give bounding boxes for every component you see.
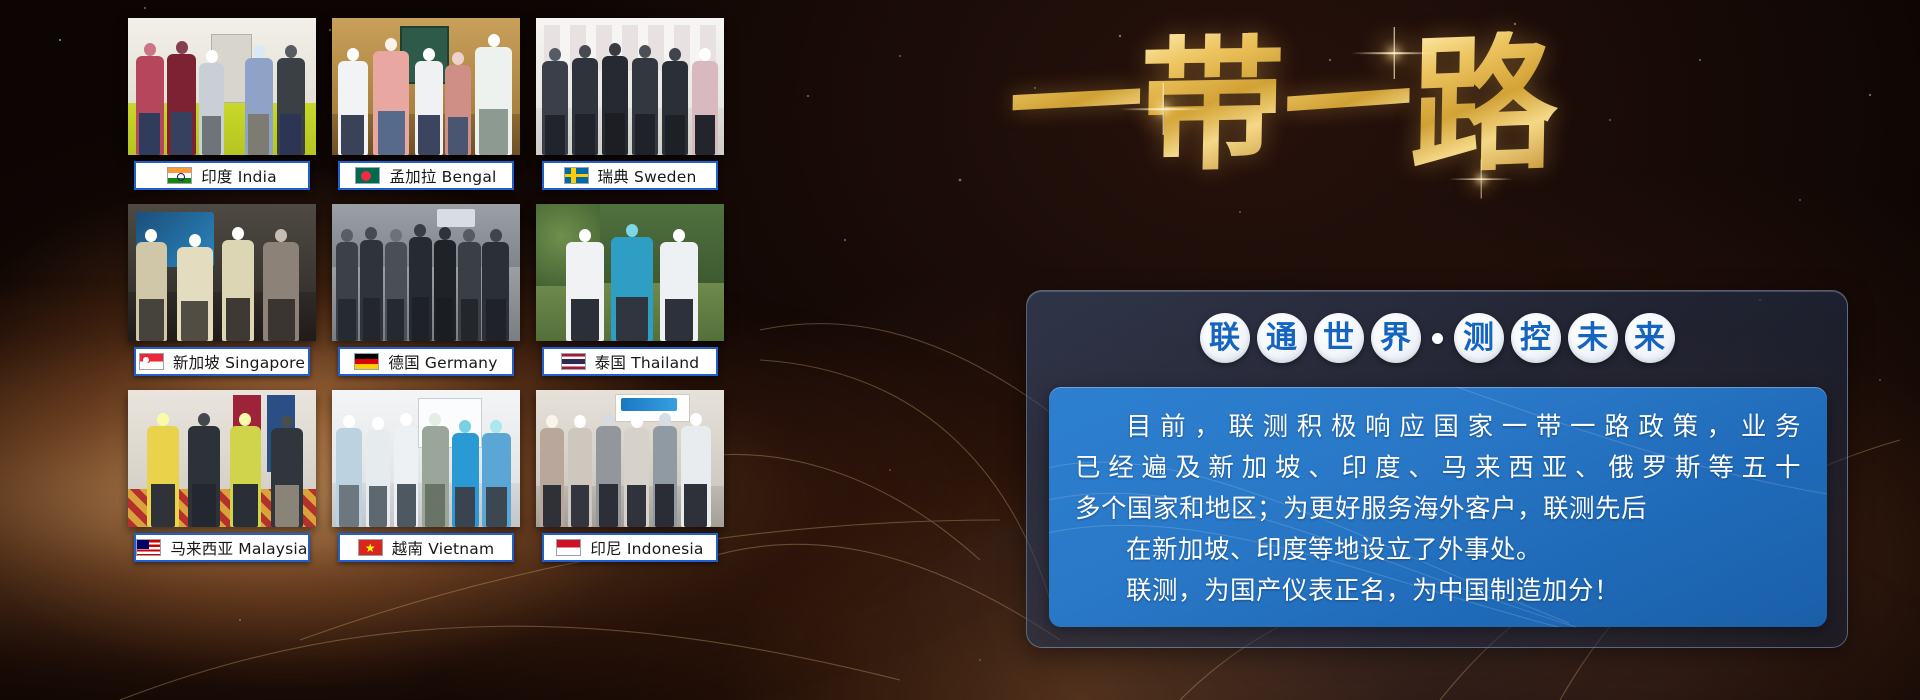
slogan-bead: 界: [1371, 313, 1421, 363]
country-label: 瑞典 Sweden: [542, 161, 718, 190]
country-label-text: 印度 India: [201, 165, 277, 187]
slogan-bead: 未: [1568, 313, 1618, 363]
gallery-item[interactable]: 印度 India: [128, 18, 316, 196]
country-label: 孟加拉 Bengal: [338, 161, 514, 190]
country-photo[interactable]: [332, 390, 520, 527]
india-flag: [167, 167, 192, 184]
country-label: 越南 Vietnam: [338, 533, 514, 562]
country-label-text: 泰国 Thailand: [595, 351, 700, 373]
slogan-row: 联 通 世 界 测 控 未 来: [1027, 313, 1847, 363]
country-label-text: 印尼 Indonesia: [590, 537, 703, 559]
country-label: 泰国 Thailand: [542, 347, 718, 376]
country-photo[interactable]: [536, 18, 724, 155]
malaysia-flag: [136, 539, 161, 556]
bengal-flag: [355, 167, 380, 184]
gallery-item[interactable]: 新加坡 Singapore: [128, 204, 316, 382]
country-gallery-grid: 印度 India: [128, 18, 760, 584]
slogan-bead: 通: [1257, 313, 1307, 363]
country-label: 德国 Germany: [338, 347, 514, 376]
headline-char-2: 带: [1138, 32, 1286, 180]
description-line-2: 已经遍及新加坡、印度、马来西亚、俄罗斯等五十: [1075, 448, 1801, 489]
country-photo[interactable]: [536, 390, 724, 527]
country-label-text: 德国 Germany: [388, 351, 497, 373]
info-panel: 联 通 世 界 测 控 未 来 目前，联测积极响应国家一带一路政策，业务 已经遍…: [1026, 290, 1848, 648]
slogan-bead: 来: [1625, 313, 1675, 363]
slogan-bead: 联: [1200, 313, 1250, 363]
country-label-text: 孟加拉 Bengal: [389, 165, 496, 187]
gallery-item[interactable]: 瑞典 Sweden: [536, 18, 724, 196]
country-photo[interactable]: [536, 204, 724, 341]
headline-calligraphy: 一 带 一 路: [1010, 6, 1550, 206]
singapore-flag: [139, 353, 164, 370]
slogan-bead: 世: [1314, 313, 1364, 363]
thailand-flag: [561, 353, 586, 370]
country-label: 马来西亚 Malaysia: [134, 533, 310, 562]
country-photo[interactable]: [332, 204, 520, 341]
germany-flag: [354, 353, 379, 370]
headline-char-1: 一: [1008, 35, 1145, 177]
sparkle-icon: [1393, 52, 1395, 54]
country-photo[interactable]: [128, 204, 316, 341]
slogan-bead: 控: [1511, 313, 1561, 363]
gallery-item[interactable]: 孟加拉 Bengal: [332, 18, 520, 196]
country-label-text: 马来西亚 Malaysia: [170, 537, 307, 559]
country-label-text: 新加坡 Singapore: [173, 351, 305, 373]
description-line-4: 在新加坡、印度等地设立了外事处。: [1075, 530, 1801, 571]
gallery-item[interactable]: 马来西亚 Malaysia: [128, 390, 316, 568]
country-label: 新加坡 Singapore: [134, 347, 310, 376]
gallery-item[interactable]: 泰国 Thailand: [536, 204, 724, 382]
country-label-text: 瑞典 Sweden: [598, 165, 697, 187]
country-photo[interactable]: [128, 390, 316, 527]
vietnam-flag: [358, 539, 383, 556]
sweden-flag: [564, 167, 589, 184]
slogan-bead: 测: [1454, 313, 1504, 363]
slogan-separator-dot: [1432, 333, 1443, 344]
indonesia-flag: [556, 539, 581, 556]
country-label: 印尼 Indonesia: [542, 533, 718, 562]
country-label: 印度 India: [134, 161, 310, 190]
description-line-5: 联测，为国产仪表正名，为中国制造加分！: [1075, 571, 1801, 612]
gallery-item[interactable]: 德国 Germany: [332, 204, 520, 382]
country-photo[interactable]: [332, 18, 520, 155]
country-label-text: 越南 Vietnam: [392, 537, 495, 559]
gallery-item[interactable]: 越南 Vietnam: [332, 390, 520, 568]
country-photo[interactable]: [128, 18, 316, 155]
sparkle-icon: [1480, 178, 1482, 180]
description-line-1: 目前，联测积极响应国家一带一路政策，业务: [1075, 407, 1801, 448]
banner-stage: 印度 India: [0, 0, 1920, 700]
gallery-item[interactable]: 印尼 Indonesia: [536, 390, 724, 568]
description-line-3: 多个国家和地区；为更好服务海外客户，联测先后: [1075, 489, 1801, 530]
description-textbox: 目前，联测积极响应国家一带一路政策，业务 已经遍及新加坡、印度、马来西亚、俄罗斯…: [1049, 387, 1827, 627]
sparkle-icon: [1162, 108, 1164, 110]
